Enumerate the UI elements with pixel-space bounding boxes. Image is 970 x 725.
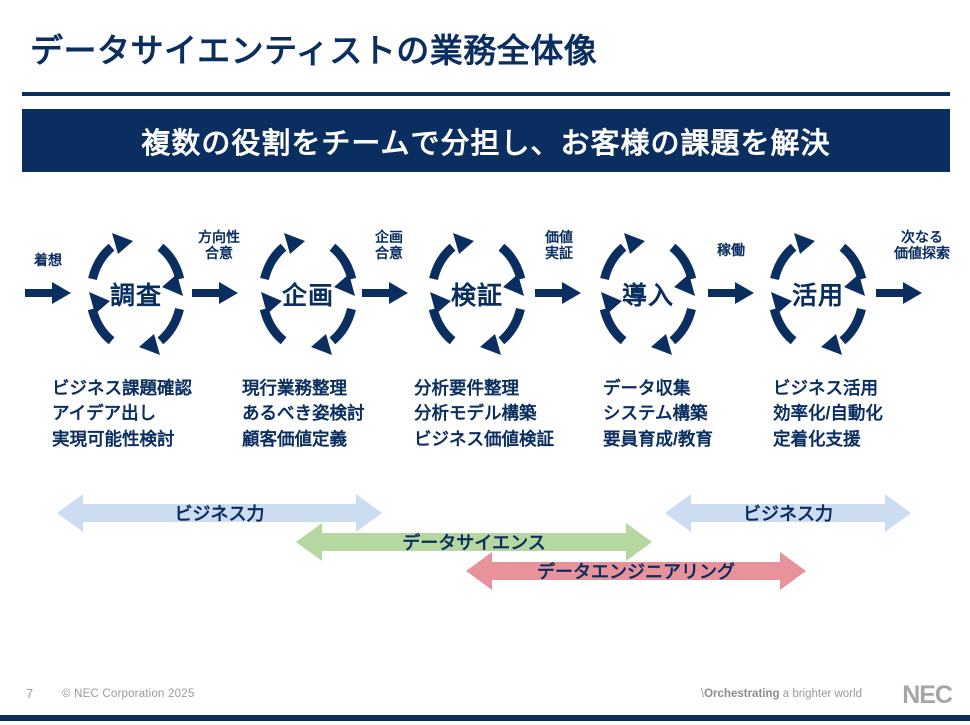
stage-cycle-5: 活用 bbox=[764, 230, 872, 358]
stage-desc-1-line1: ビジネス課題確認 bbox=[52, 376, 192, 401]
stage-desc-3-line1: 分析要件整理 bbox=[414, 376, 554, 401]
stage-desc-4-line2: システム構築 bbox=[603, 401, 713, 426]
stage-label-2: 企画 bbox=[254, 230, 362, 358]
transition-label-4: 稼働 bbox=[703, 242, 759, 258]
skill-arrow-data-engineering: データエンジニアリング bbox=[466, 550, 806, 592]
stage-desc-4-line3: 要員育成/教育 bbox=[603, 427, 713, 452]
stage-cycle-3: 検証 bbox=[423, 230, 531, 358]
stage-desc-4: データ収集 システム構築 要員育成/教育 bbox=[603, 376, 713, 452]
stage-label-3: 検証 bbox=[423, 230, 531, 358]
headline-banner-text: 複数の役割をチームで分担し、お客様の課題を解決 bbox=[141, 120, 830, 162]
stage-desc-5-line2: 効率化/自動化 bbox=[773, 401, 883, 426]
flow-connector-4 bbox=[708, 282, 754, 304]
stage-desc-1-line3: 実現可能性検討 bbox=[52, 427, 192, 452]
process-flow: 着想 調査 bbox=[0, 222, 970, 372]
skill-label-business-right: ビジネス力 bbox=[665, 492, 911, 534]
stage-label-4: 導入 bbox=[594, 230, 702, 358]
stage-desc-1: ビジネス課題確認 アイデア出し 実現可能性検討 bbox=[52, 376, 192, 452]
transition-label-3-line1: 価値 bbox=[528, 229, 590, 245]
nec-tagline: \Orchestrating a brighter world bbox=[701, 688, 862, 700]
title-divider bbox=[22, 92, 950, 96]
transition-label-2-line2: 合意 bbox=[356, 245, 422, 261]
transition-label-3-line2: 実証 bbox=[528, 245, 590, 261]
footer-divider bbox=[0, 715, 970, 721]
transition-label-1-line1: 方向性 bbox=[182, 229, 256, 245]
stage-desc-5: ビジネス活用 効率化/自動化 定着化支援 bbox=[773, 376, 883, 452]
stage-desc-2-line3: 顧客価値定義 bbox=[242, 427, 365, 452]
skill-label-data-engineering: データエンジニアリング bbox=[466, 550, 806, 592]
skill-arrow-business-right: ビジネス力 bbox=[665, 492, 911, 534]
flow-entry-label: 着想 bbox=[22, 252, 74, 268]
stage-desc-2-line1: 現行業務整理 bbox=[242, 376, 365, 401]
flow-connector-1 bbox=[192, 282, 238, 304]
flow-entry-arrow bbox=[25, 282, 71, 304]
stage-descriptions: ビジネス課題確認 アイデア出し 実現可能性検討 現行業務整理 あるべき姿検討 顧… bbox=[0, 376, 970, 462]
transition-label-1: 方向性 合意 bbox=[182, 229, 256, 261]
nec-logo: NEC bbox=[902, 681, 952, 710]
page-number: 7 bbox=[26, 686, 33, 701]
stage-desc-2-line2: あるべき姿検討 bbox=[242, 401, 365, 426]
skill-arrows: ビジネス力 データサイエンス データエンジニアリング ビジネス力 bbox=[0, 485, 970, 610]
stage-desc-2: 現行業務整理 あるべき姿検討 顧客価値定義 bbox=[242, 376, 365, 452]
stage-desc-4-line1: データ収集 bbox=[603, 376, 713, 401]
stage-cycle-4: 導入 bbox=[594, 230, 702, 358]
transition-label-2-line1: 企画 bbox=[356, 229, 422, 245]
tagline-rest: a brighter world bbox=[780, 688, 862, 700]
transition-label-4-line1: 稼働 bbox=[703, 242, 759, 258]
stage-desc-3-line3: ビジネス価値検証 bbox=[414, 427, 554, 452]
stage-label-5: 活用 bbox=[764, 230, 872, 358]
flow-exit-label-line1: 次なる bbox=[878, 229, 966, 245]
copyright-text: © NEC Corporation 2025 bbox=[62, 688, 194, 700]
flow-connector-2 bbox=[362, 282, 408, 304]
stage-desc-3-line2: 分析モデル構築 bbox=[414, 401, 554, 426]
stage-desc-3: 分析要件整理 分析モデル構築 ビジネス価値検証 bbox=[414, 376, 554, 452]
stage-desc-5-line3: 定着化支援 bbox=[773, 427, 883, 452]
flow-connector-3 bbox=[535, 282, 581, 304]
flow-exit-label-line2: 価値探索 bbox=[878, 245, 966, 261]
page-title: データサイエンティストの業務全体像 bbox=[30, 24, 597, 72]
slide-root: データサイエンティストの業務全体像 複数の役割をチームで分担し、お客様の課題を解… bbox=[0, 0, 970, 725]
stage-cycle-2: 企画 bbox=[254, 230, 362, 358]
headline-banner: 複数の役割をチームで分担し、お客様の課題を解決 bbox=[22, 109, 950, 172]
flow-exit-label: 次なる 価値探索 bbox=[878, 229, 966, 261]
stage-label-1: 調査 bbox=[82, 230, 190, 358]
stage-desc-5-line1: ビジネス活用 bbox=[773, 376, 883, 401]
flow-exit-arrow bbox=[876, 282, 922, 304]
transition-label-3: 価値 実証 bbox=[528, 229, 590, 261]
stage-cycle-1: 調査 bbox=[82, 230, 190, 358]
transition-label-1-line2: 合意 bbox=[182, 245, 256, 261]
transition-label-2: 企画 合意 bbox=[356, 229, 422, 261]
tagline-bold: Orchestrating bbox=[704, 688, 779, 700]
stage-desc-1-line2: アイデア出し bbox=[52, 401, 192, 426]
